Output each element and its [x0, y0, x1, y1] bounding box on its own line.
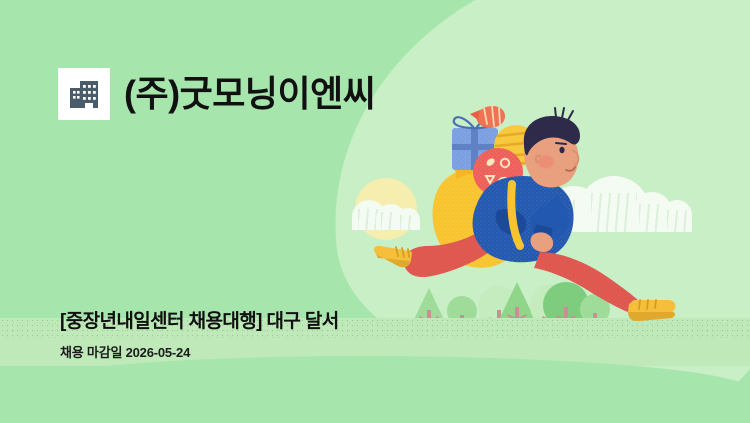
cheek-blush	[538, 156, 554, 169]
rear-leg	[374, 232, 492, 277]
candy-icon	[470, 106, 505, 128]
office-building-icon	[67, 77, 101, 111]
head	[524, 108, 580, 187]
application-deadline: 채용 마감일 2026-05-24	[60, 342, 190, 361]
company-header: (주)굿모닝이엔씨	[58, 68, 375, 120]
front-leg	[534, 252, 675, 321]
company-name: (주)굿모닝이엔씨	[124, 76, 375, 112]
job-posting-title: [중장년내일센터 채용대행] 대구 달서	[60, 306, 339, 333]
job-posting-card[interactable]: (주)굿모닝이엔씨 [중장년내일센터 채용대행] 대구 달서 채용 마감일 20…	[0, 0, 750, 423]
company-logo	[58, 68, 110, 120]
eye	[559, 147, 564, 153]
